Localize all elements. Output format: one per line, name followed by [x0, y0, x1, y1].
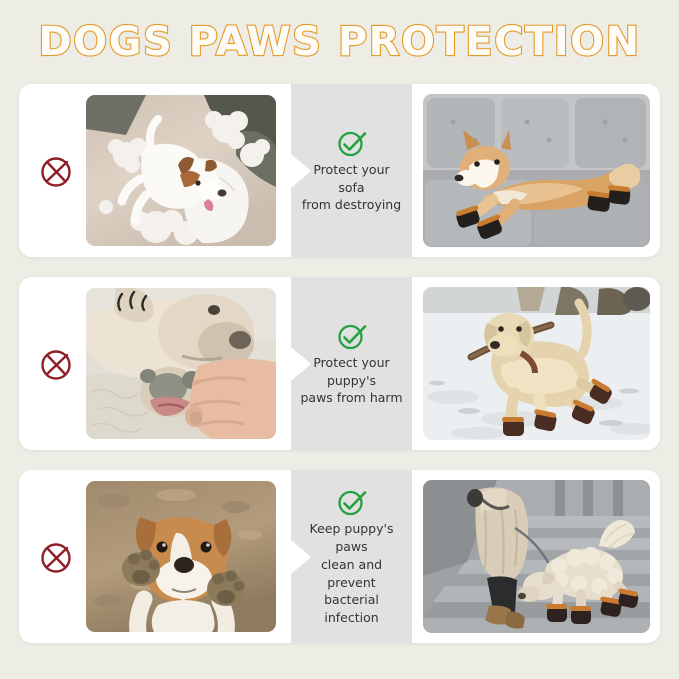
x-circle-icon — [37, 537, 77, 577]
problem-photo-muddy-paws — [86, 481, 276, 632]
benefit-row-paws-harm: Protect your puppy's paws from harm — [19, 277, 660, 450]
arrow-right-icon — [291, 347, 311, 381]
solution-photo-stairs-walk — [423, 480, 650, 633]
benefit-caption-zone: Protect your puppy's paws from harm — [291, 277, 412, 450]
solution-zone — [412, 277, 660, 450]
benefit-caption-zone: Keep puppy's paws clean and prevent bact… — [291, 470, 412, 643]
solution-photo-sofa — [423, 94, 650, 247]
x-circle-icon — [37, 344, 77, 384]
benefit-row-sofa: Protect your sofa from destroying — [19, 84, 660, 257]
benefit-caption-zone: Protect your sofa from destroying — [291, 84, 412, 257]
problem-zone — [19, 277, 291, 450]
page-title: DOGS PAWS PROTECTION — [38, 19, 640, 65]
check-circle-icon — [336, 486, 368, 518]
check-circle-icon — [336, 127, 368, 159]
benefit-row-clean-paws: Keep puppy's paws clean and prevent bact… — [19, 470, 660, 643]
problem-photo-sofa — [86, 95, 276, 246]
title-bar: DOGS PAWS PROTECTION — [0, 0, 679, 84]
check-circle-icon — [336, 320, 368, 352]
problem-photo-injured-paw — [86, 288, 276, 439]
solution-zone — [412, 470, 660, 643]
arrow-right-icon — [291, 540, 311, 574]
benefit-rows: Protect your sofa from destroying — [0, 84, 679, 643]
solution-zone — [412, 84, 660, 257]
solution-photo-snow-run — [423, 287, 650, 440]
arrow-right-icon — [291, 154, 311, 188]
benefit-caption: Keep puppy's paws clean and prevent bact… — [291, 520, 412, 627]
problem-zone — [19, 470, 291, 643]
x-circle-icon — [37, 151, 77, 191]
problem-zone — [19, 84, 291, 257]
